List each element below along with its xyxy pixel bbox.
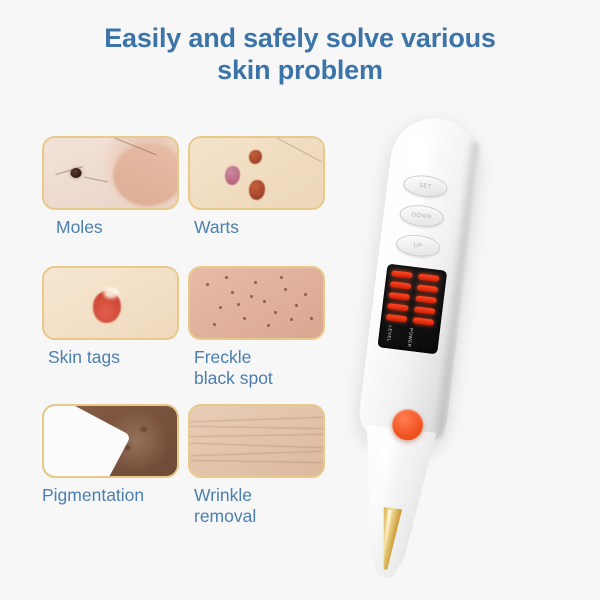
condition-card-warts[interactable]: Warts (188, 136, 333, 238)
page-title: Easily and safely solve various skin pro… (0, 22, 600, 86)
condition-thumbnail-pigmentation (42, 404, 179, 478)
led-bar (417, 284, 439, 293)
wart-lesion (249, 180, 265, 200)
skin-photo-moles (44, 138, 177, 208)
finger-shape (113, 144, 179, 206)
led-bar (413, 317, 435, 326)
condition-thumbnail-moles (42, 136, 179, 210)
condition-thumbnail-warts (188, 136, 325, 210)
condition-card-pigmentation[interactable]: Pigmentation (42, 404, 187, 506)
led-bar (391, 270, 413, 279)
device-led-display: LEVEL POWER (377, 264, 447, 355)
condition-label-moles: Moles (42, 217, 187, 238)
condition-card-skin-tags[interactable]: Skin tags (42, 266, 187, 368)
led-bar (418, 274, 440, 283)
condition-label-skin-tags: Skin tags (42, 347, 187, 368)
led-caption-power: POWER (407, 328, 414, 348)
led-bar (414, 306, 436, 315)
led-bar-group (386, 270, 440, 325)
background-cutout (42, 404, 131, 478)
skin-photo-wrinkle (190, 406, 323, 476)
condition-card-moles[interactable]: Moles (42, 136, 187, 238)
skin-crease (275, 137, 322, 163)
condition-card-wrinkle[interactable]: Wrinkle removal (188, 404, 333, 527)
led-bar (415, 295, 437, 304)
skin-hair (84, 176, 108, 182)
led-bar (387, 303, 409, 312)
wart-lesion (249, 150, 262, 164)
led-bar (390, 281, 412, 290)
condition-thumbnail-skin-tags (42, 266, 179, 340)
page-title-line1: Easily and safely solve various (104, 23, 496, 53)
wart-lesion (225, 166, 240, 185)
skin-tag-highlight (103, 288, 118, 299)
skin-photo-warts (190, 138, 323, 208)
skin-photo-freckle (190, 268, 323, 338)
condition-label-pigmentation: Pigmentation (42, 485, 187, 506)
condition-grid: Moles Warts Skin tags (0, 136, 360, 556)
condition-card-freckle[interactable]: Freckle black spot (188, 266, 333, 389)
skin-photo-skin-tags (44, 268, 177, 338)
product-banner: Easily and safely solve various skin pro… (0, 0, 600, 600)
led-caption-group: LEVEL POWER (386, 326, 414, 349)
led-bar (386, 314, 408, 323)
led-column-power (413, 274, 440, 326)
led-column-level (386, 270, 413, 322)
skin-photo-pigmentation (44, 406, 177, 476)
led-bar (388, 292, 410, 301)
condition-label-wrinkle: Wrinkle removal (188, 485, 333, 527)
condition-label-warts: Warts (188, 217, 333, 238)
led-caption-level: LEVEL (386, 326, 393, 346)
condition-thumbnail-wrinkle (188, 404, 325, 478)
condition-label-freckle: Freckle black spot (188, 347, 333, 389)
page-title-line2: skin problem (0, 54, 600, 86)
condition-thumbnail-freckle (188, 266, 325, 340)
mole-lesion (70, 168, 81, 178)
